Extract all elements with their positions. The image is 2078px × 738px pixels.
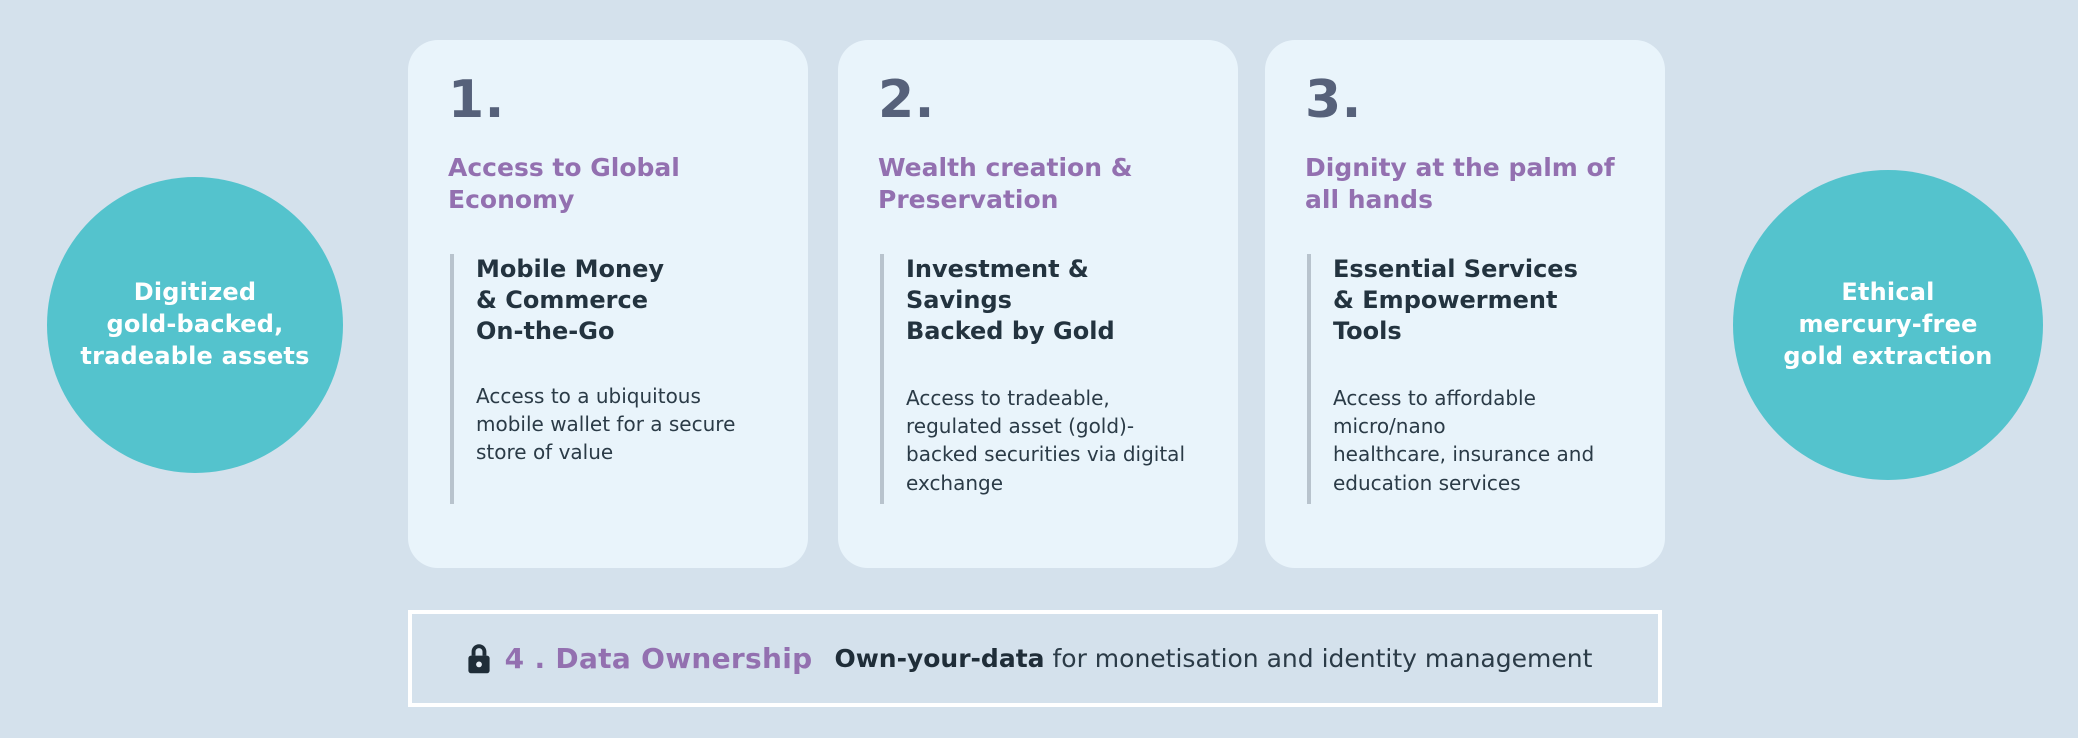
lock-icon xyxy=(466,643,492,675)
card-wealth-creation-preservation[interactable]: 2. Wealth creation & Preservation Invest… xyxy=(838,40,1238,568)
circle-digitized-gold-assets: Digitized gold-backed, tradeable assets xyxy=(47,177,343,473)
card-3-description: Access to affordable micro/nano healthca… xyxy=(1333,384,1625,498)
card-1-body: Mobile Money & Commerce On-the-Go Access… xyxy=(450,254,768,504)
infographic-canvas: Digitized gold-backed, tradeable assets … xyxy=(0,0,2078,738)
card-2-number: 2. xyxy=(878,74,1198,126)
data-ownership-content: 4 . Data Ownership Own-your-data for mon… xyxy=(466,643,1593,675)
card-3-title: Dignity at the palm of all hands xyxy=(1305,152,1625,216)
data-ownership-number-label: 4 . Data Ownership xyxy=(505,645,813,673)
circle-ethical-gold-extraction: Ethical mercury-free gold extraction xyxy=(1733,170,2043,480)
card-3-subtitle: Essential Services & Empowerment Tools xyxy=(1333,254,1625,348)
card-2-title: Wealth creation & Preservation xyxy=(878,152,1198,216)
card-access-to-global-economy[interactable]: 1. Access to Global Economy Mobile Money… xyxy=(408,40,808,568)
data-ownership-description: for monetisation and identity management xyxy=(1045,646,1593,671)
card-1-subtitle: Mobile Money & Commerce On-the-Go xyxy=(476,254,768,348)
own-your-data-label: Own-your-data xyxy=(834,646,1044,671)
card-2-subtitle: Investment & Savings Backed by Gold xyxy=(906,254,1198,348)
card-1-title: Access to Global Economy xyxy=(448,152,768,216)
card-2-description: Access to tradeable, regulated asset (go… xyxy=(906,384,1198,498)
card-dignity-at-the-palm-of-all-hands[interactable]: 3. Dignity at the palm of all hands Esse… xyxy=(1265,40,1665,568)
card-3-number: 3. xyxy=(1305,74,1625,126)
card-1-number: 1. xyxy=(448,74,768,126)
card-1-description: Access to a ubiquitous mobile wallet for… xyxy=(476,382,768,467)
circle-right-label: Ethical mercury-free gold extraction xyxy=(1765,277,2010,372)
card-2-body: Investment & Savings Backed by Gold Acce… xyxy=(880,254,1198,504)
data-ownership-banner[interactable]: 4 . Data Ownership Own-your-data for mon… xyxy=(408,610,1662,707)
card-3-body: Essential Services & Empowerment Tools A… xyxy=(1307,254,1625,504)
circle-left-label: Digitized gold-backed, tradeable assets xyxy=(62,277,327,372)
